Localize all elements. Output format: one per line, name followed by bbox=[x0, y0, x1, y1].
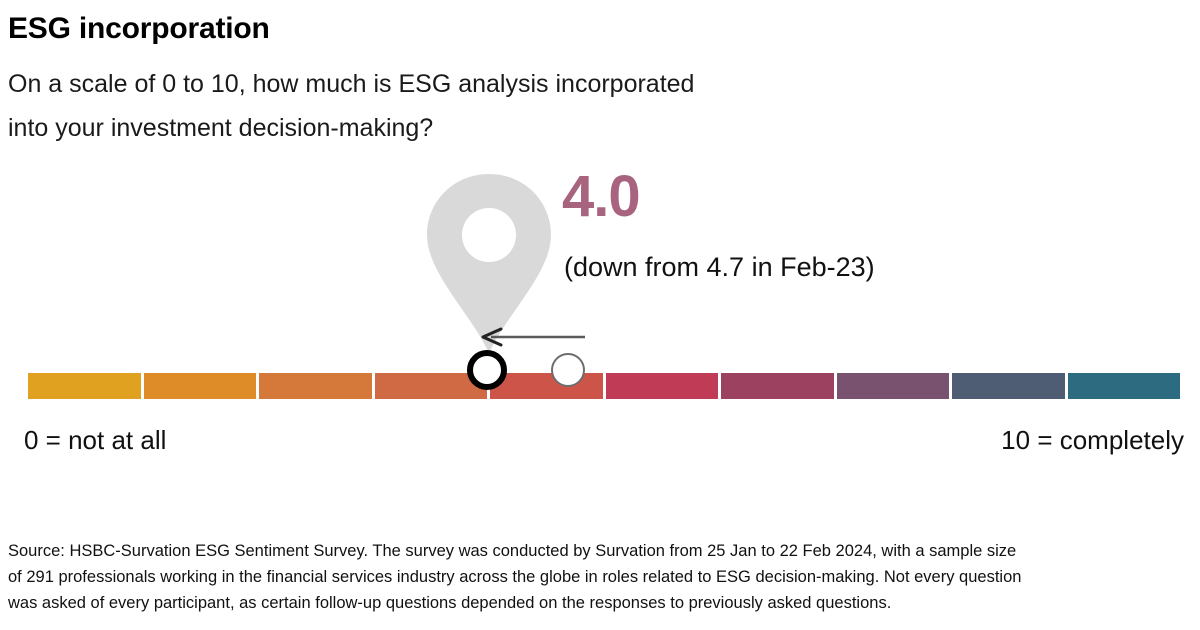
scale-segment-1 bbox=[144, 373, 257, 399]
value-comparison-text: (down from 4.7 in Feb-23) bbox=[564, 252, 875, 282]
scale-segment-4 bbox=[490, 373, 603, 399]
scale-segment-6 bbox=[721, 373, 834, 399]
scale-bar bbox=[28, 373, 1180, 399]
scale-segment-0 bbox=[28, 373, 141, 399]
scale-low-label: 0 = not at all bbox=[24, 425, 166, 456]
source-note: Source: HSBC-Survation ESG Sentiment Sur… bbox=[8, 538, 1188, 616]
scale-segment-9 bbox=[1068, 373, 1181, 399]
page-subtitle: On a scale of 0 to 10, how much is ESG a… bbox=[8, 62, 694, 150]
infographic-page: ESG incorporation On a scale of 0 to 10,… bbox=[0, 0, 1200, 630]
change-direction-arrow-icon bbox=[475, 325, 595, 349]
source-line-1: Source: HSBC-Survation ESG Sentiment Sur… bbox=[8, 538, 1188, 564]
source-line-2: of 291 professionals working in the fina… bbox=[8, 564, 1188, 590]
current-value-marker[interactable] bbox=[467, 350, 507, 390]
scale-segment-5 bbox=[606, 373, 719, 399]
scale-segment-8 bbox=[952, 373, 1065, 399]
scale-high-label: 10 = completely bbox=[1001, 425, 1184, 456]
scale-segment-2 bbox=[259, 373, 372, 399]
subtitle-line-1: On a scale of 0 to 10, how much is ESG a… bbox=[8, 70, 694, 98]
source-line-3: was asked of every participant, as certa… bbox=[8, 590, 1188, 616]
subtitle-line-2: into your investment decision-making? bbox=[8, 106, 694, 150]
page-title: ESG incorporation bbox=[8, 12, 270, 46]
scale-segment-7 bbox=[837, 373, 950, 399]
current-value-display: 4.0 bbox=[562, 168, 640, 226]
previous-value-marker[interactable] bbox=[551, 353, 585, 387]
